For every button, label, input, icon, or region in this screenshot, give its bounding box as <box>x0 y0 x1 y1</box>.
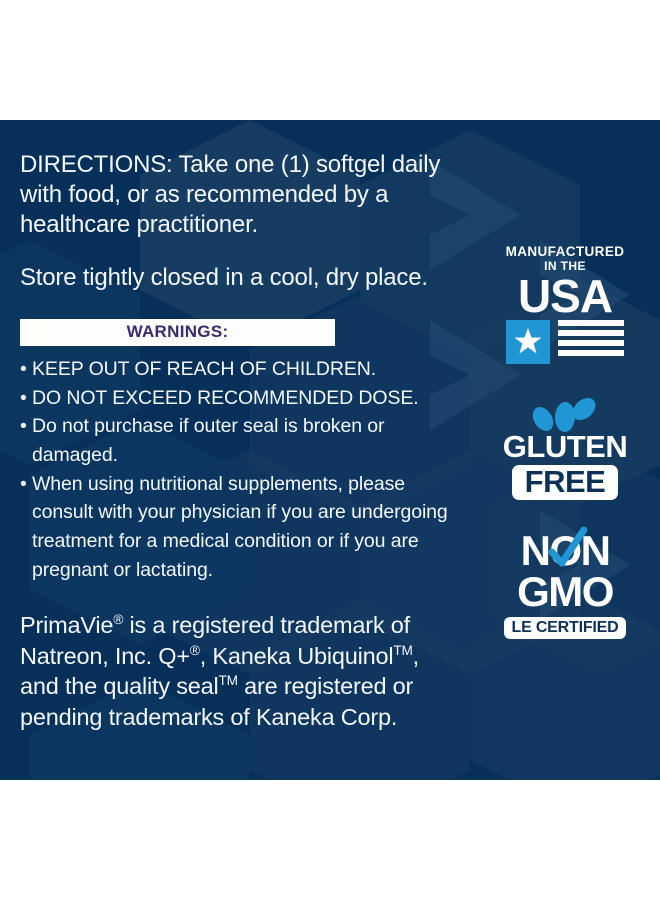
warnings-header-bar: WARNINGS: <box>20 319 335 346</box>
made-in-usa-badge: MANUFACTURED IN THE USA <box>499 245 631 369</box>
usa-badge-line1: MANUFACTURED <box>499 245 631 259</box>
supplement-label-panel: DIRECTIONS: Take one (1) softgel daily w… <box>0 120 660 780</box>
list-item: KEEP OUT OF REACH OF CHILDREN. <box>20 355 460 384</box>
wheat-leaves-icon <box>499 397 631 433</box>
non-word: NON <box>499 530 631 572</box>
usa-flag-icon <box>499 320 631 369</box>
warnings-list: KEEP OUT OF REACH OF CHILDREN. DO NOT EX… <box>20 355 460 584</box>
certification-badge-column: MANUFACTURED IN THE USA <box>490 245 640 639</box>
warnings-title: WARNINGS: <box>127 322 229 342</box>
free-word: FREE <box>525 464 606 499</box>
list-item: Do not purchase if outer seal is broken … <box>20 412 460 469</box>
le-certified-pill: LE CERTIFIED <box>504 617 627 639</box>
non-gmo-badge: NON GMO LE CERTIFIED <box>499 530 631 639</box>
le-certified-word: LE CERTIFIED <box>512 619 619 636</box>
gluten-word: GLUTEN <box>499 431 631 462</box>
gmo-word: GMO <box>499 571 631 613</box>
trademark-mark-icon: TM <box>219 673 238 688</box>
trademark-paragraph: PrimaVie® is a registered trademark of N… <box>20 610 460 732</box>
non-row: NON <box>499 530 631 572</box>
trademark-mark-icon: TM <box>393 643 412 658</box>
trademark-primavie: PrimaVie <box>20 612 113 638</box>
label-text-column: DIRECTIONS: Take one (1) softgel daily w… <box>20 150 460 756</box>
list-item: When using nutritional supplements, plea… <box>20 470 460 585</box>
trademark-text-3: , Kaneka Ubiquinol <box>200 643 394 669</box>
directions-paragraph: DIRECTIONS: Take one (1) softgel daily w… <box>20 150 460 241</box>
registered-mark-icon: ® <box>190 643 200 658</box>
usa-badge-word: USA <box>499 275 631 317</box>
free-pill: FREE <box>512 465 619 501</box>
list-item: DO NOT EXCEED RECOMMENDED DOSE. <box>20 384 460 413</box>
storage-paragraph: Store tightly closed in a cool, dry plac… <box>20 263 460 293</box>
gluten-free-badge: GLUTEN FREE <box>499 397 631 501</box>
registered-mark-icon: ® <box>113 612 123 627</box>
